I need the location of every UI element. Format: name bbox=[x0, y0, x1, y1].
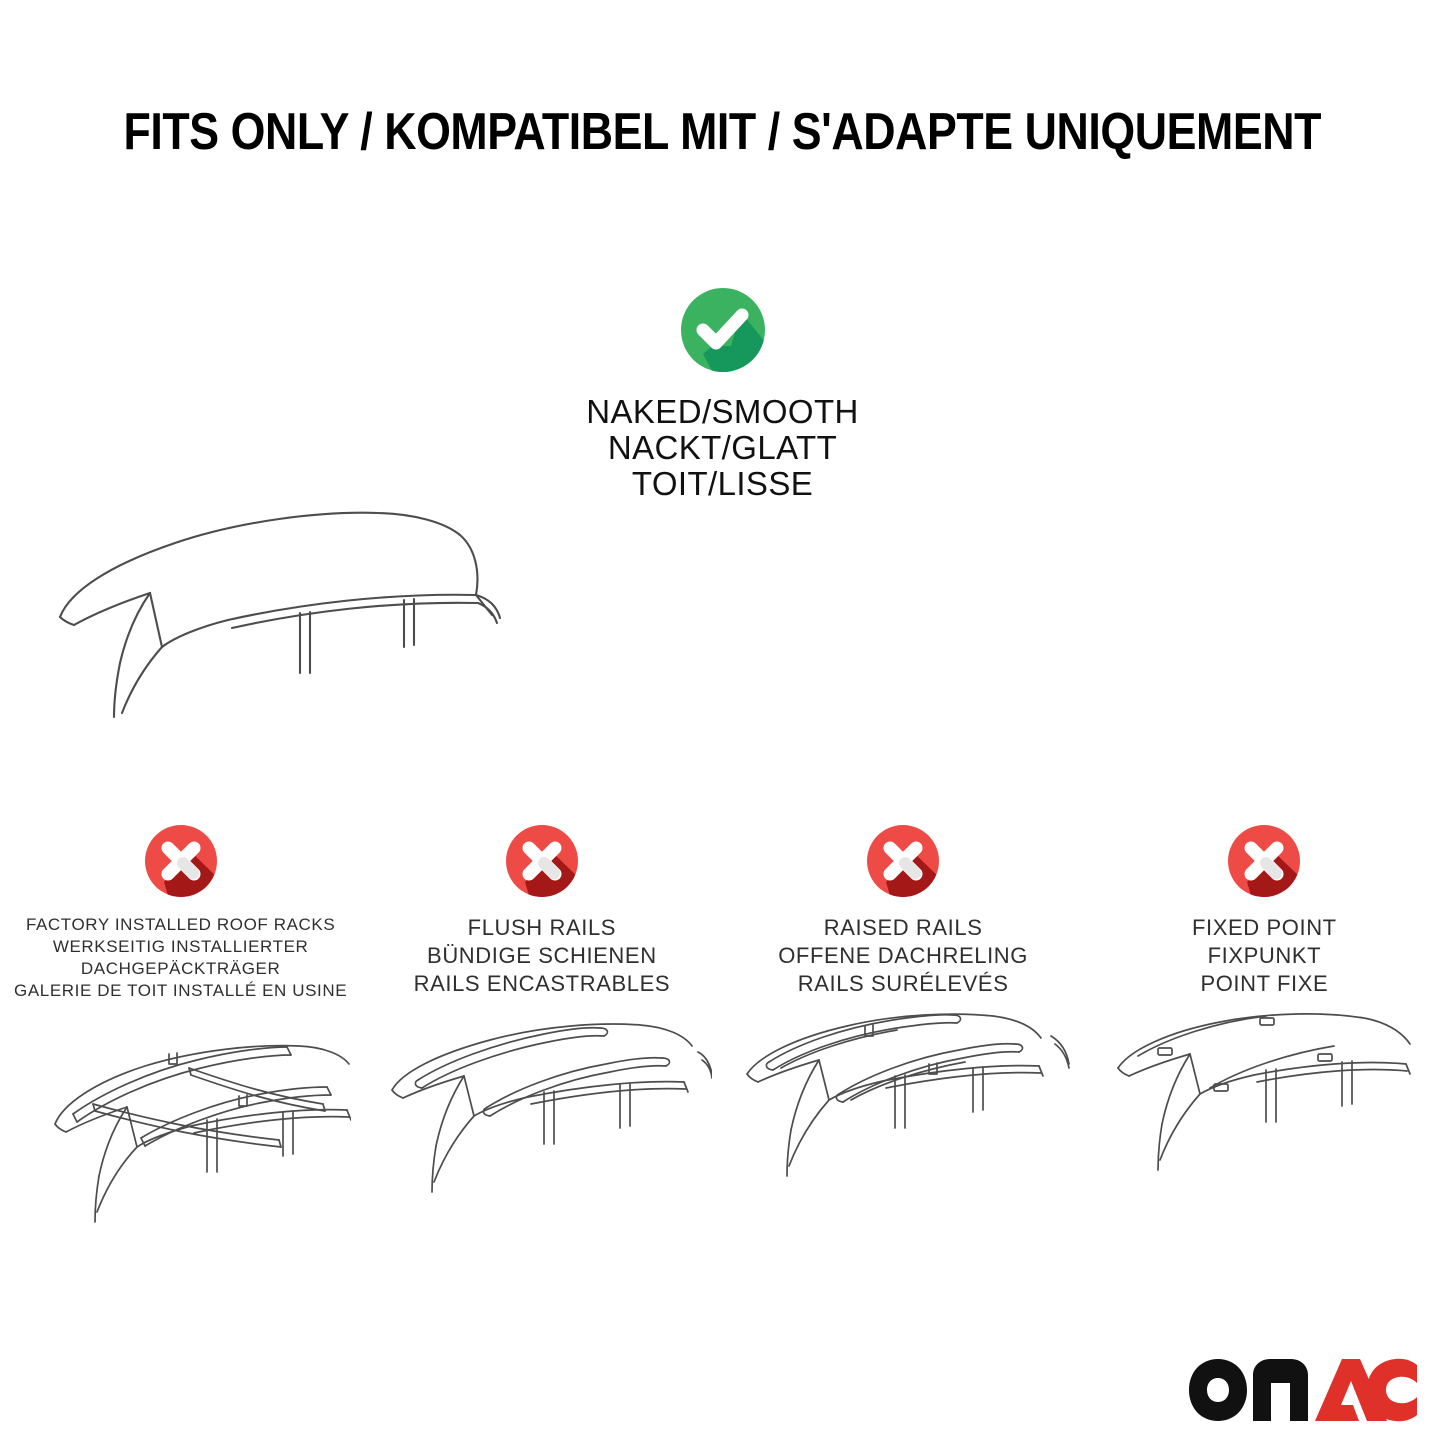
not-compatible-label: FLUSH RAILS BÜNDIGE SCHIENEN RAILS ENCAS… bbox=[414, 914, 671, 998]
not-compatible-label: FIXED POINT FIXPUNKT POINT FIXE bbox=[1192, 914, 1337, 998]
label-line-3: RAILS ENCASTRABLES bbox=[414, 970, 671, 998]
x-circle-icon bbox=[140, 820, 222, 902]
page-title: FITS ONLY / KOMPATIBEL MIT / S'ADAPTE UN… bbox=[124, 104, 1322, 160]
label-line-3: RAILS SURÉLEVÉS bbox=[778, 970, 1028, 998]
compatible-section: NAKED/SMOOTH NACKT/GLATT TOIT/LISSE bbox=[0, 280, 1445, 502]
x-circle-icon bbox=[862, 820, 944, 902]
x-circle-icon bbox=[501, 820, 583, 902]
label-line-2: BÜNDIGE SCHIENEN bbox=[414, 942, 671, 970]
not-compatible-item-raised-rails: RAISED RAILS OFFENE DACHRELING RAILS SUR… bbox=[723, 820, 1084, 1227]
label-line-2: WERKSEITIG INSTALLIERTER bbox=[14, 936, 347, 958]
car-roof-flush-rails-illustration bbox=[367, 1012, 716, 1227]
label-line-1: FIXED POINT bbox=[1192, 914, 1337, 942]
car-roof-factory-racks-illustration bbox=[6, 1016, 355, 1231]
logo-letter-o bbox=[1189, 1359, 1247, 1421]
label-line-3: POINT FIXE bbox=[1192, 970, 1337, 998]
compatible-label-line-2: NACKT/GLATT bbox=[0, 430, 1445, 466]
car-roof-naked-smooth-illustration bbox=[0, 487, 1445, 727]
x-circle-icon bbox=[1223, 820, 1305, 902]
car-roof-raised-rails-illustration bbox=[729, 1012, 1078, 1227]
label-line-4: GALERIE DE TOIT INSTALLÉ EN USINE bbox=[14, 980, 347, 1002]
compatible-label-line-1: NAKED/SMOOTH bbox=[0, 394, 1445, 430]
label-line-1: FLUSH RAILS bbox=[414, 914, 671, 942]
not-compatible-label: FACTORY INSTALLED ROOF RACKS WERKSEITIG … bbox=[14, 914, 347, 1002]
label-line-2: OFFENE DACHRELING bbox=[778, 942, 1028, 970]
not-compatible-section: FACTORY INSTALLED ROOF RACKS WERKSEITIG … bbox=[0, 820, 1445, 1231]
check-circle-icon bbox=[673, 280, 773, 380]
logo-letter-m bbox=[1253, 1359, 1308, 1421]
label-line-2: FIXPUNKT bbox=[1192, 942, 1337, 970]
label-line-1: RAISED RAILS bbox=[778, 914, 1028, 942]
not-compatible-item-factory-racks: FACTORY INSTALLED ROOF RACKS WERKSEITIG … bbox=[0, 820, 361, 1231]
not-compatible-label: RAISED RAILS OFFENE DACHRELING RAILS SUR… bbox=[778, 914, 1028, 998]
omac-logo bbox=[1187, 1357, 1419, 1423]
header: FITS ONLY / KOMPATIBEL MIT / S'ADAPTE UN… bbox=[0, 104, 1445, 160]
car-roof-fixed-point-illustration bbox=[1090, 1012, 1439, 1227]
label-line-1: FACTORY INSTALLED ROOF RACKS bbox=[14, 914, 347, 936]
not-compatible-item-fixed-point: FIXED POINT FIXPUNKT POINT FIXE bbox=[1084, 820, 1445, 1227]
label-line-3: DACHGEPÄCKTRÄGER bbox=[14, 958, 347, 980]
not-compatible-item-flush-rails: FLUSH RAILS BÜNDIGE SCHIENEN RAILS ENCAS… bbox=[361, 820, 722, 1227]
